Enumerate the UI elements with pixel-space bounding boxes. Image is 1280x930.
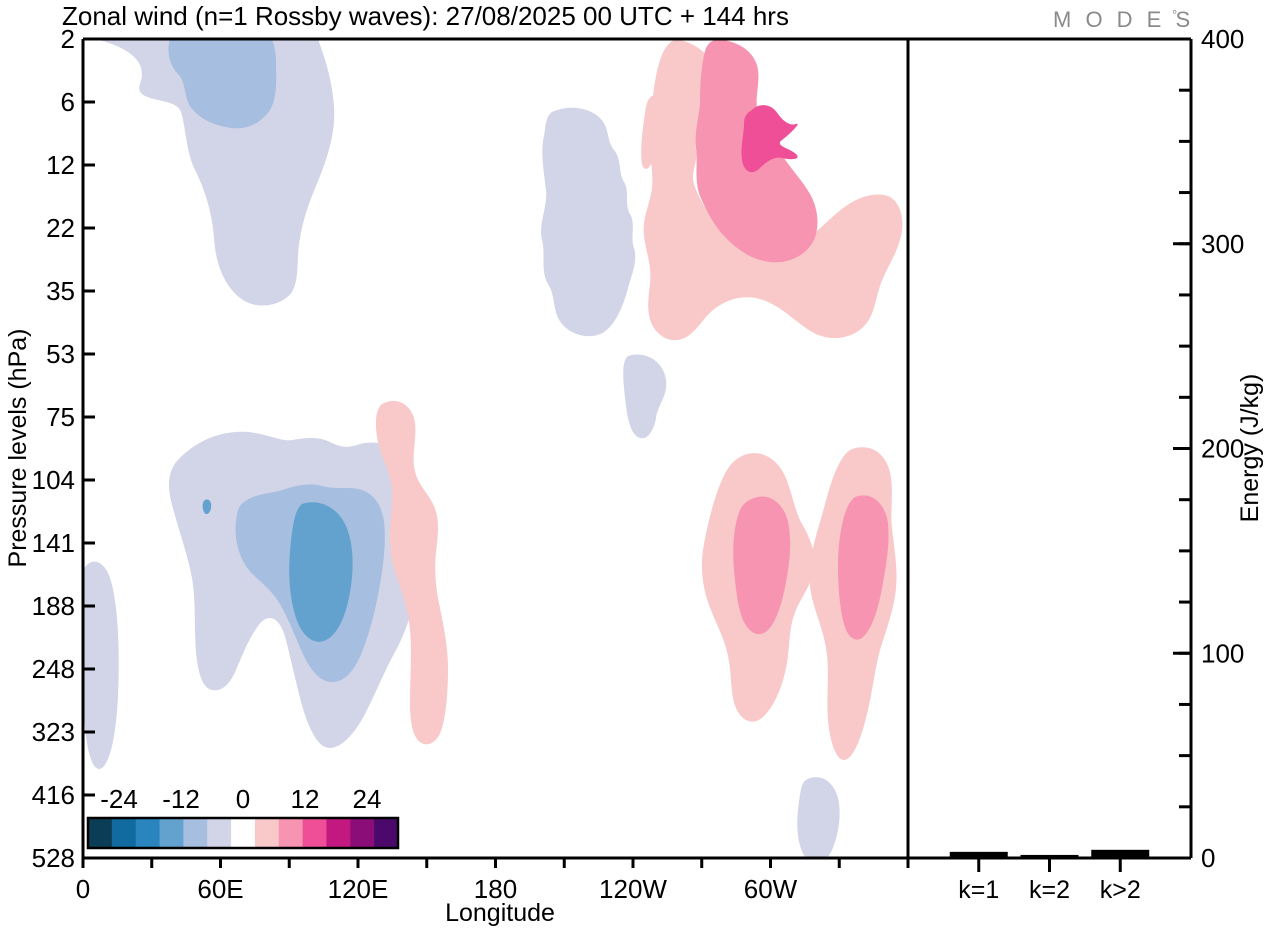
colorbar-swatch bbox=[207, 818, 231, 848]
energy-tick-label: 400 bbox=[1201, 24, 1244, 54]
colorbar-tick-label: 0 bbox=[236, 784, 250, 814]
zonal-wind-figure: Zonal wind (n=1 Rossby waves): 27/08/202… bbox=[0, 0, 1280, 930]
colorbar-swatches bbox=[88, 818, 399, 848]
pressure-tick-label: 22 bbox=[46, 213, 75, 243]
pressure-tick-label: 416 bbox=[32, 780, 75, 810]
longitude-axis-label: Longitude bbox=[445, 899, 555, 927]
colorbar-tick-label: -24 bbox=[100, 784, 138, 814]
chart-title: Zonal wind (n=1 Rossby waves): 27/08/202… bbox=[62, 1, 789, 31]
colorbar-swatch bbox=[183, 818, 207, 848]
colorbar-swatch bbox=[88, 818, 112, 848]
colorbar-swatch bbox=[350, 818, 374, 848]
energy-axis-label: Energy (J/kg) bbox=[1236, 374, 1264, 523]
pressure-tick-label: 2 bbox=[61, 24, 75, 54]
contour-field bbox=[82, 39, 908, 864]
longitude-tick-label: 60E bbox=[197, 874, 243, 904]
colorbar-swatch bbox=[303, 818, 327, 848]
pressure-tick-label: 248 bbox=[32, 654, 75, 684]
modes-logo-degree-icon: ° bbox=[1172, 7, 1177, 22]
longitude-tick-label: 120E bbox=[328, 874, 389, 904]
longitude-tick-label: 0 bbox=[76, 874, 90, 904]
pressure-axis-label: Pressure levels (hPa) bbox=[4, 329, 32, 568]
modes-logo: M O D E S ° bbox=[1053, 7, 1194, 32]
energy-bar bbox=[1091, 850, 1149, 858]
energy-category-label: k>2 bbox=[1100, 876, 1141, 904]
colorbar-swatch bbox=[231, 818, 255, 848]
colorbar-tick-label: 24 bbox=[353, 784, 382, 814]
longitude-tick-label: 120W bbox=[599, 874, 667, 904]
energy-tick-label: 300 bbox=[1201, 229, 1244, 259]
colorbar-swatch bbox=[279, 818, 303, 848]
pressure-tick-label: 528 bbox=[32, 843, 75, 873]
energy-bar bbox=[950, 852, 1008, 858]
pressure-tick-label: 141 bbox=[32, 528, 75, 558]
pressure-tick-label: 188 bbox=[32, 591, 75, 621]
colorbar-swatch bbox=[160, 818, 184, 848]
colorbar-tick-label: 12 bbox=[291, 784, 320, 814]
colorbar-swatch bbox=[374, 818, 398, 848]
pressure-tick-label: 75 bbox=[46, 402, 75, 432]
energy-category-label: k=2 bbox=[1029, 876, 1070, 904]
pressure-tick-label: 323 bbox=[32, 717, 75, 747]
pressure-tick-label: 6 bbox=[61, 87, 75, 117]
colorbar-swatch bbox=[112, 818, 136, 848]
pressure-tick-label: 12 bbox=[46, 150, 75, 180]
pressure-tick-label: 53 bbox=[46, 339, 75, 369]
energy-bar bbox=[1021, 855, 1079, 858]
longitude-tick-label: 60W bbox=[744, 874, 798, 904]
pressure-tick-label: 35 bbox=[46, 276, 75, 306]
energy-tick-label: 0 bbox=[1201, 843, 1215, 873]
energy-category-label: k=1 bbox=[958, 876, 999, 904]
colorbar-tick-label: -12 bbox=[162, 784, 200, 814]
contour-negative-far-west-edge bbox=[82, 562, 119, 769]
colorbar-swatch bbox=[326, 818, 350, 848]
pressure-tick-label: 104 bbox=[32, 465, 75, 495]
colorbar-swatch bbox=[136, 818, 160, 848]
energy-tick-label: 100 bbox=[1201, 638, 1244, 668]
colorbar-swatch bbox=[255, 818, 279, 848]
